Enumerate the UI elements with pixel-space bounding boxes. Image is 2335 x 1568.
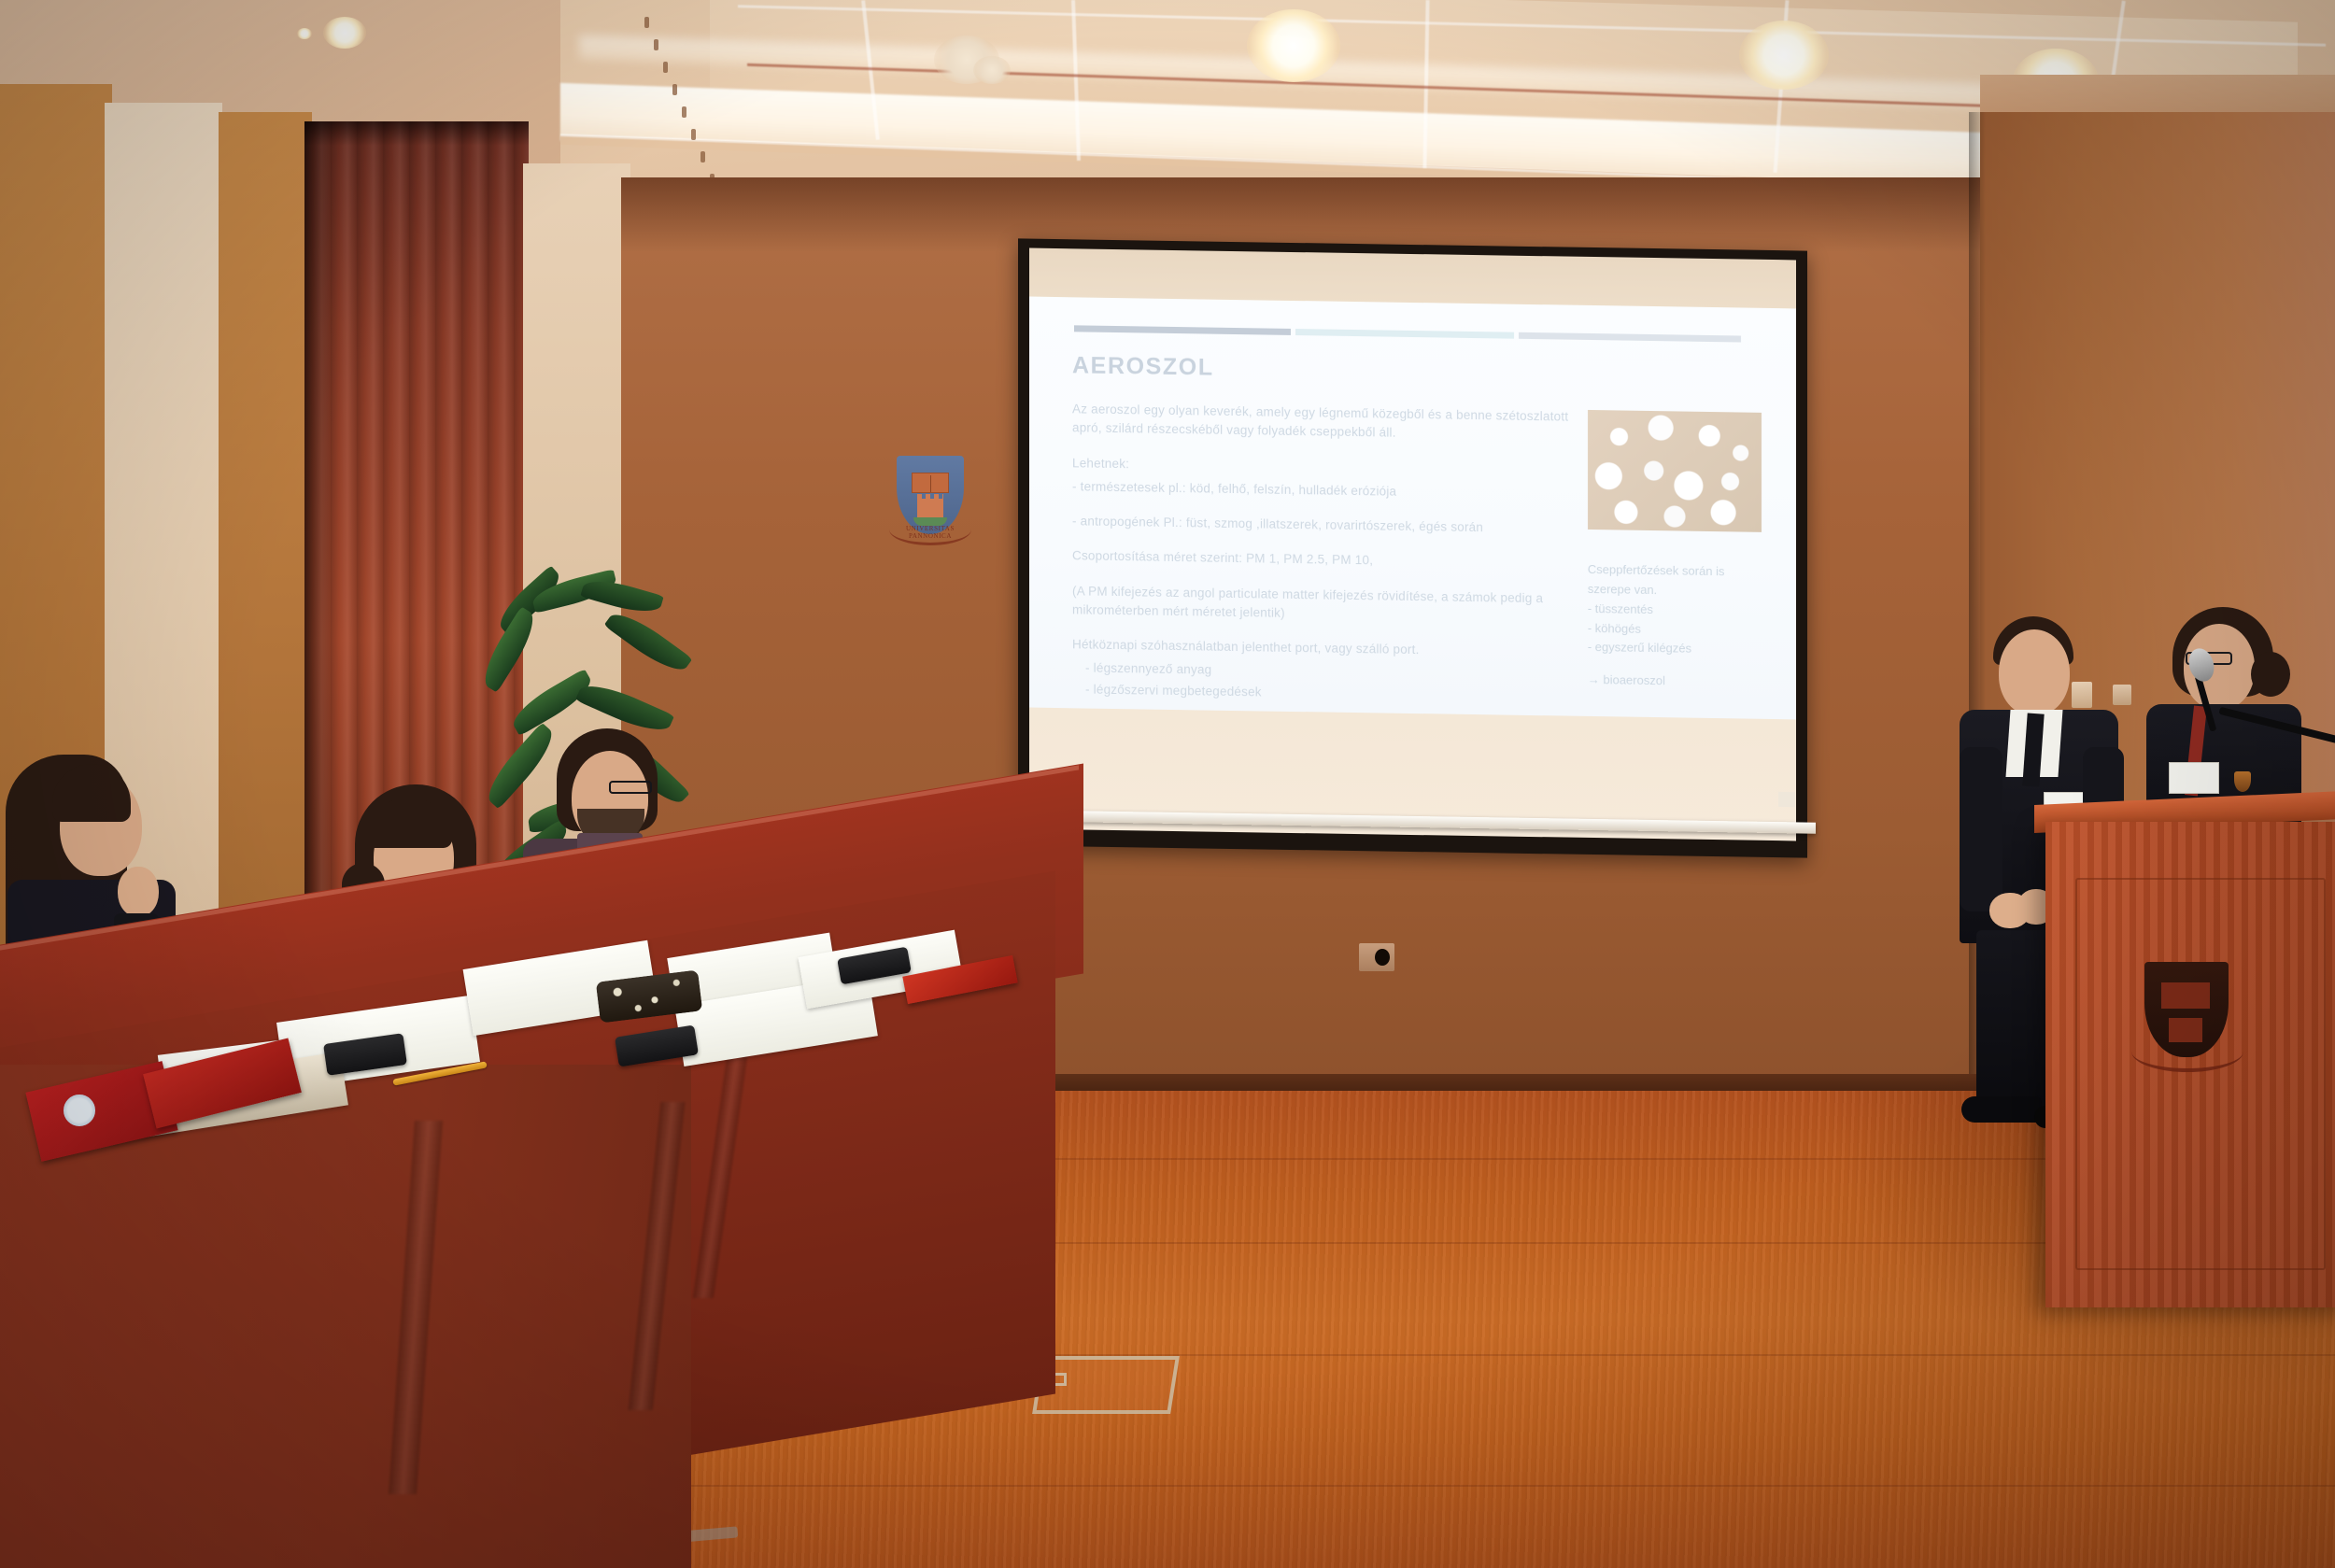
ceiling-vent-slot [700,151,705,162]
ceiling-vent-slot [663,62,668,73]
projection-screen: AEROSZOL Az aeroszol egy olyan keverék, … [1018,245,1807,852]
head [1999,629,2070,715]
crest-book-icon [2161,982,2210,1009]
aerosol-droplets-image [1588,410,1762,532]
university-crest-podium [2131,962,2243,1097]
rule-segment-2 [1295,329,1514,339]
slide-paragraph: (A PM kifejezés az angol particulate mat… [1072,582,1575,628]
ceiling-downlight [323,17,366,49]
crest-motto-text: UNIVERSITAS PANNONICA [889,525,971,540]
rule-segment-1 [1074,325,1291,335]
curtain-rod-shadow [304,121,529,146]
slide-paragraph: Az aeroszol egy olyan keverék, amely egy… [1072,400,1575,445]
booklet-emblem-icon [64,1095,95,1126]
wall-back-shadow [621,177,1985,252]
hair-bun [2251,652,2290,697]
slide-paragraph: szerepe van. [1588,581,1764,601]
slide-bullet: - tüsszentés [1588,600,1764,621]
slide-left-column: Az aeroszol egy olyan keverék, amely egy… [1072,400,1575,708]
power-outlet[interactable] [1359,943,1394,971]
slide-body: Az aeroszol egy olyan keverék, amely egy… [1072,400,1764,711]
crest-ribbon-icon [2131,1031,2243,1072]
glasses-icon [609,781,652,794]
ceiling-vent-slot [654,39,658,50]
ceiling-vent-slot [691,129,696,140]
slide-bullet: - egyszerű kilégzés [1588,639,1764,659]
screen-bar-knob[interactable] [1778,792,1795,807]
crest-book-icon [912,473,949,493]
ceiling-vent-slot [644,17,649,28]
plant-leaf [603,605,692,679]
slide-header-rule [1074,325,1764,343]
slide-bullet: - antropogének Pl.: füst, szmog ,illatsz… [1072,512,1575,539]
slide-bullet: - természetesek pl.: köd, felhő, felszín… [1072,477,1575,504]
screen-surface: AEROSZOL Az aeroszol egy olyan keverék, … [1029,248,1796,841]
ceiling-downlight [1739,21,1829,90]
name-badge [2169,762,2219,794]
ceiling-vent-slot [682,106,686,118]
projected-slide: AEROSZOL Az aeroszol egy olyan keverék, … [1029,297,1796,720]
ceiling-downlight [973,56,1011,84]
conference-room-scene: UNIVERSITAS PANNONICA [0,0,2335,1568]
rule-segment-3 [1519,332,1741,343]
university-crest-wall: UNIVERSITAS PANNONICA [889,456,971,558]
slide-conclusion: → bioaeroszol [1588,671,1764,692]
shoe [1961,1096,2042,1123]
slide-content: AEROSZOL Az aeroszol egy olyan keverék, … [1029,297,1796,720]
slide-title: AEROSZOL [1072,352,1764,390]
ceiling-vent-slot [672,84,677,95]
ceiling-downlight [297,28,312,39]
slide-paragraph: Cseppfertőzések során is [1588,561,1764,582]
ceiling-downlight [1247,9,1340,82]
hand [118,867,159,917]
slide-paragraph: Hétköznapi szóhasználatban jelenthet por… [1072,635,1575,662]
slide-right-column: Cseppfertőzések során is szerepe van. - … [1588,408,1764,712]
slide-paragraph: Csoportosítása méret szerint: PM 1, PM 2… [1072,547,1575,574]
slide-paragraph: Lehetnek: [1072,454,1575,481]
slide-bullet: - köhögés [1588,619,1764,640]
arm [1960,747,2002,911]
